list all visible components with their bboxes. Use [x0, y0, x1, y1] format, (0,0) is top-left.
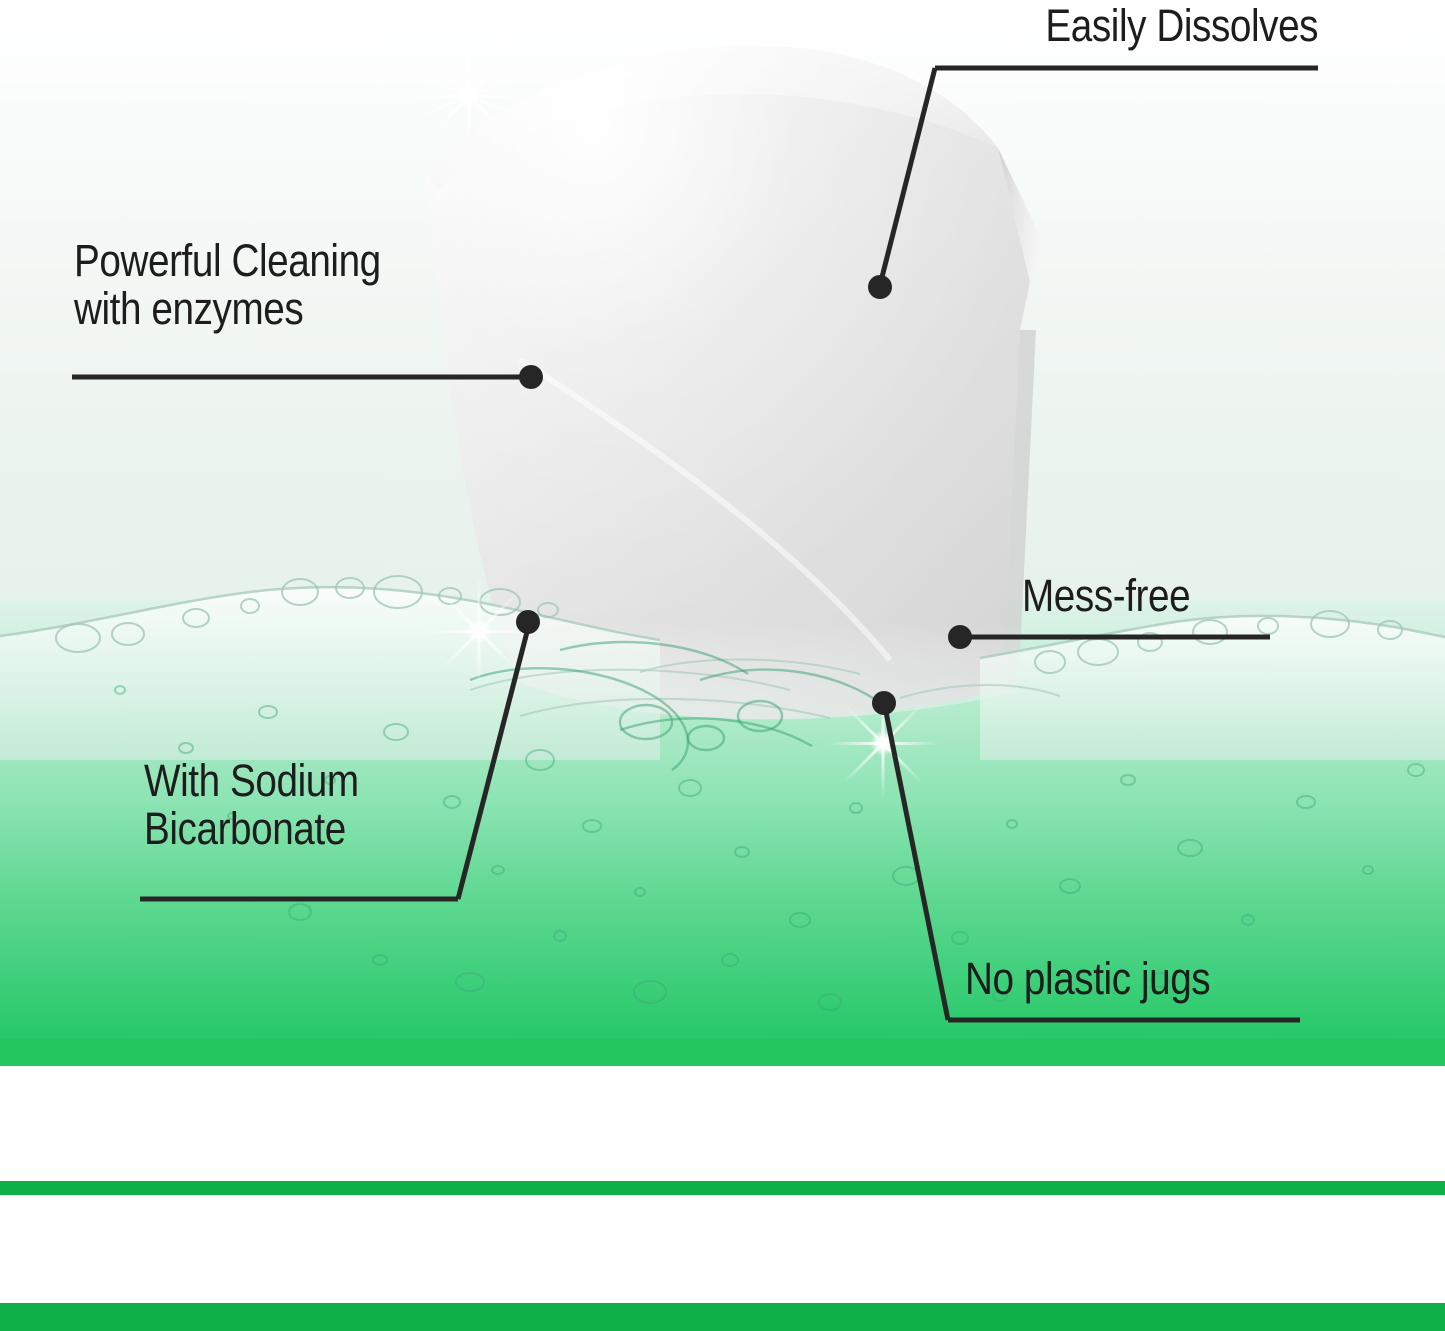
callout-label-easily-dissolves: Easily Dissolves: [1045, 2, 1318, 50]
banner-rule-bottom: [0, 1303, 1445, 1331]
dot-no-plastic-jugs: [872, 691, 896, 715]
leader-easily-dissolves: [880, 68, 935, 285]
callout-label-sodium-bicarbonate: With Sodium Bicarbonate: [144, 757, 359, 852]
dot-sodium-bicarbonate: [516, 610, 540, 634]
dot-mess-free: [948, 625, 972, 649]
product-scene: Easily Dissolves Powerful Cleaning with …: [0, 0, 1445, 1066]
dot-powerful-cleaning: [519, 365, 543, 389]
callout-label-no-plastic-jugs: No plastic jugs: [965, 955, 1210, 1003]
infographic-canvas: Easily Dissolves Powerful Cleaning with …: [0, 0, 1445, 1331]
callout-dots: [516, 275, 972, 715]
dot-easily-dissolves: [868, 275, 892, 299]
callout-leaders: [0, 0, 1445, 1066]
marketing-banner: With Filth Figther Enzyme Blend Formulat…: [0, 1066, 1445, 1331]
leader-sodium-bicarbonate: [458, 632, 527, 899]
banner-rule-middle: [0, 1181, 1445, 1195]
banner-rule-top: [0, 1039, 1445, 1066]
leader-no-plastic-jugs: [886, 712, 948, 1020]
callout-label-mess-free: Mess-free: [1022, 572, 1190, 620]
callout-label-powerful-cleaning: Powerful Cleaning with enzymes: [74, 237, 381, 332]
